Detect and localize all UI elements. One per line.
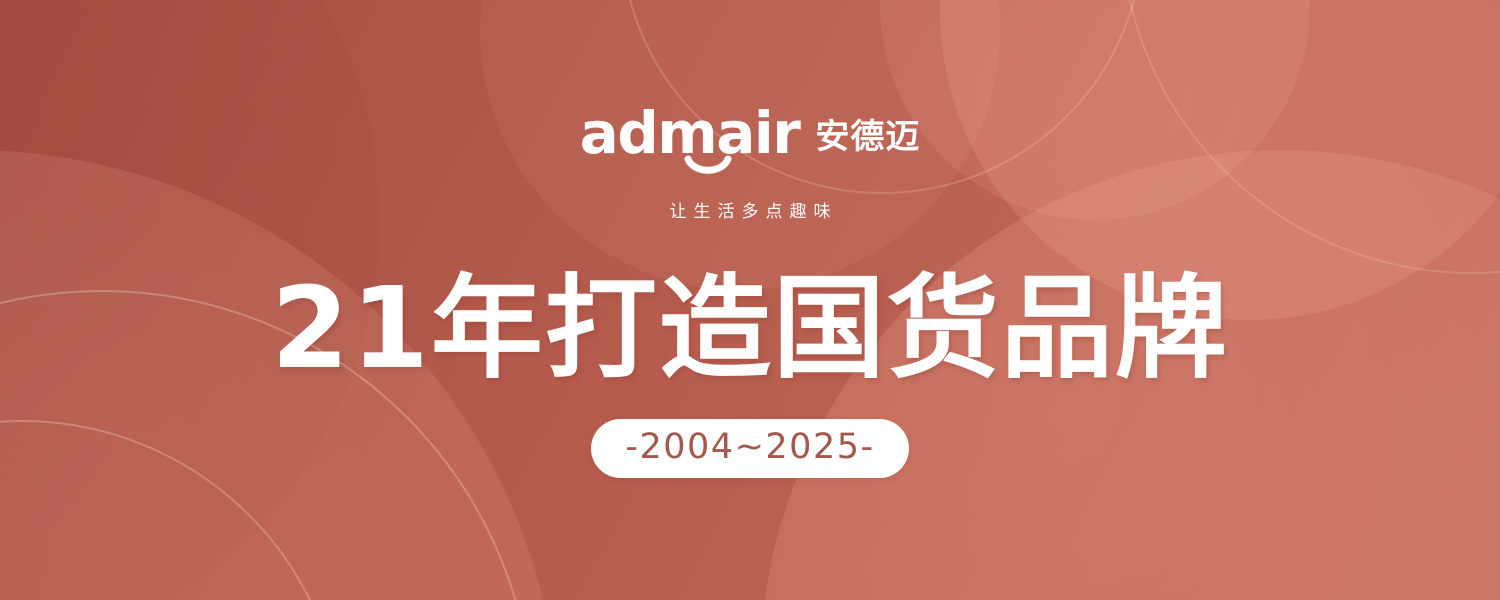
smile-curve-icon [684,155,732,177]
brand-wordmark: admair [580,104,800,162]
brand-logo-lockup: admair 安德迈 [580,100,921,162]
promo-banner: admair 安德迈 让生活多点趣味 21年打造国货品牌 -2004~2025- [0,0,1500,600]
headline-text: 21年打造国货品牌 [271,273,1229,385]
year-range-badge: -2004~2025- [591,419,908,478]
banner-content: admair 安德迈 让生活多点趣味 21年打造国货品牌 -2004~2025- [0,0,1500,600]
brand-name-chinese: 安德迈 [815,120,920,154]
wordmark-wrapper: admair [580,104,800,162]
brand-tagline: 让生活多点趣味 [663,204,838,221]
